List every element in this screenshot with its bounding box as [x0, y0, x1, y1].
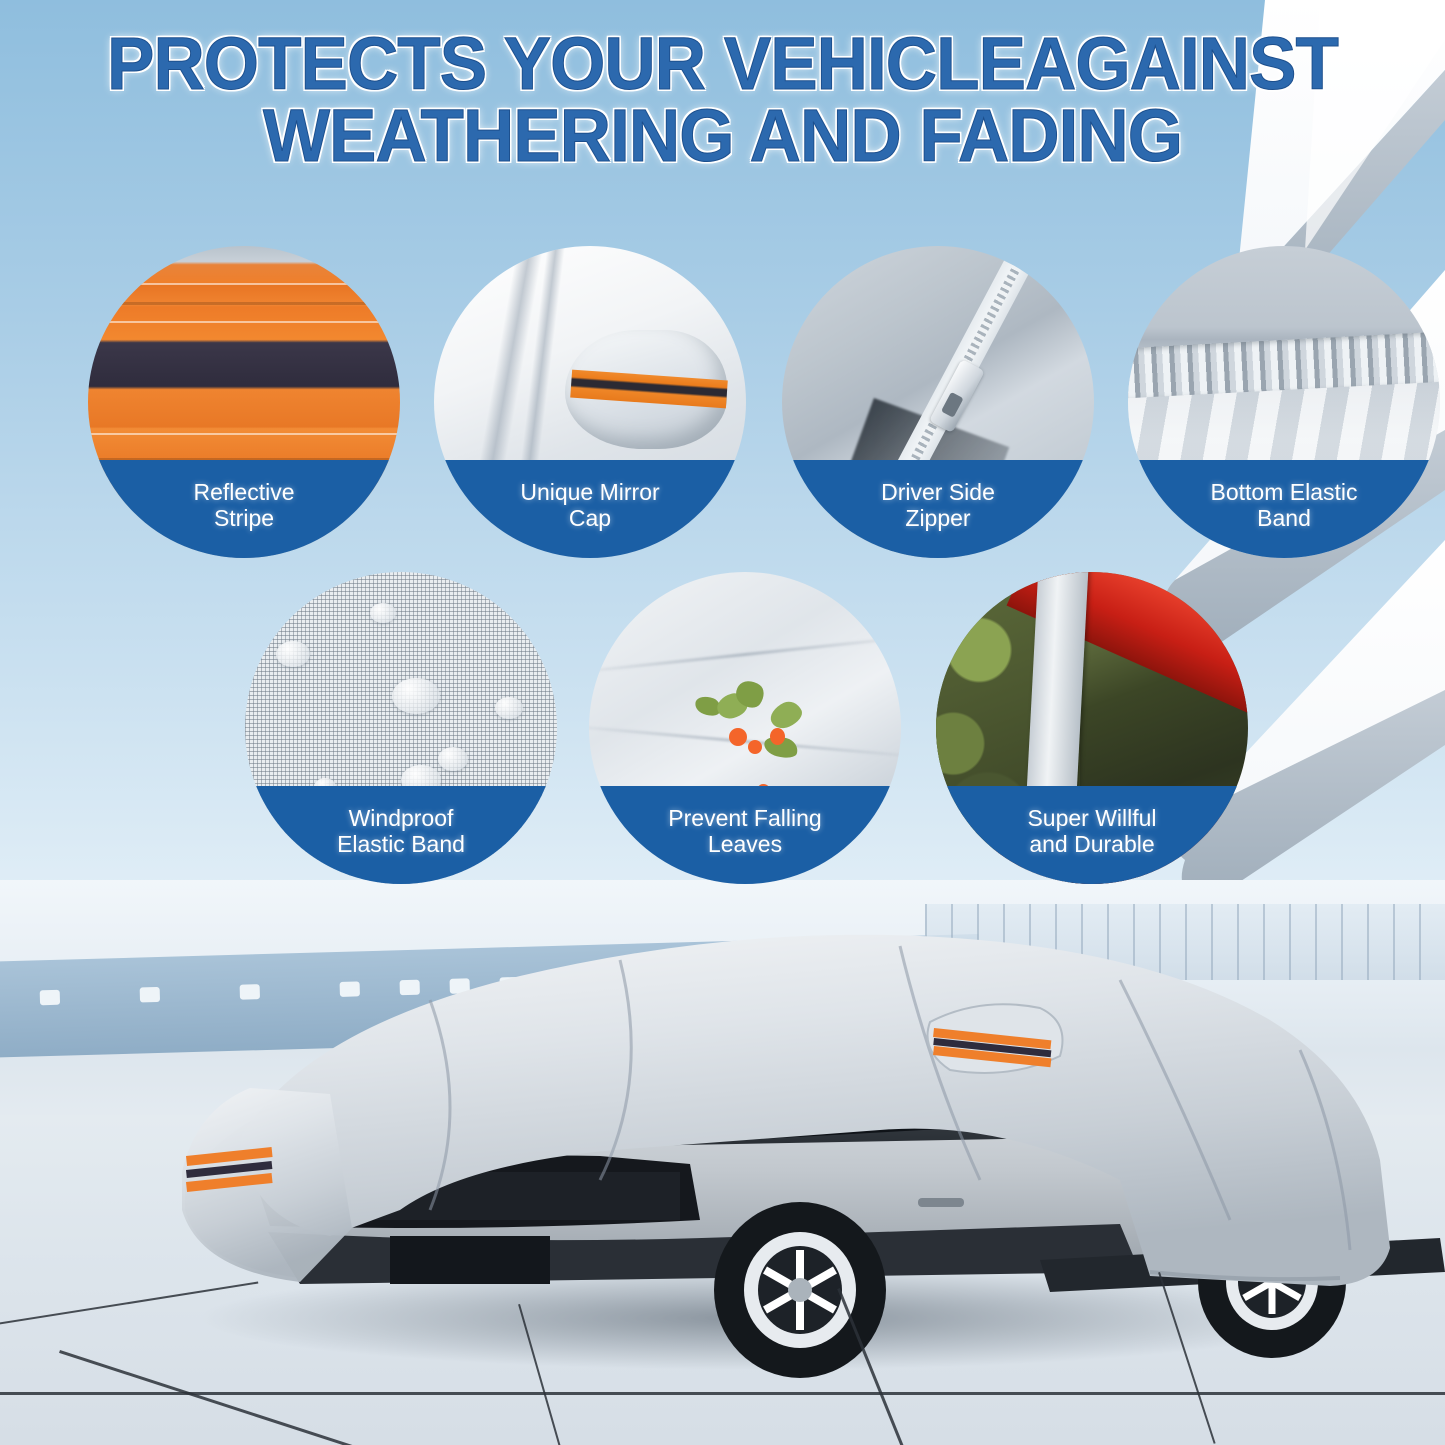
- feature-bottom-elastic-band: Bottom Elastic Band: [1128, 246, 1440, 558]
- feature-super-willful-and-durable: Super Willful and Durable: [936, 572, 1248, 884]
- feature-label-line-2: Elastic Band: [337, 832, 465, 858]
- feature-driver-side-zipper: Driver Side Zipper: [782, 246, 1094, 558]
- feature-label-driver-side-zipper: Driver Side Zipper: [782, 460, 1094, 558]
- feature-label-line-2: Leaves: [668, 832, 821, 858]
- feature-label-windproof-elastic-band: Windproof Elastic Band: [245, 786, 557, 884]
- feature-label-line-2: Cap: [520, 506, 659, 532]
- page-title: PROTECTS YOUR VEHICLEAGAINST WEATHERING …: [29, 28, 1416, 172]
- feature-reflective-stripe: Reflective Stripe: [88, 246, 400, 558]
- feature-label-line-2: Stripe: [194, 506, 295, 532]
- feature-label-unique-mirror-cap: Unique Mirror Cap: [434, 460, 746, 558]
- feature-label-line-1: Super Willful: [1027, 806, 1156, 832]
- covered-car-illustration: [0, 880, 1445, 1445]
- feature-label-line-1: Unique Mirror: [520, 480, 659, 506]
- headline-line-1: PROTECTS YOUR VEHICLEAGAINST: [107, 22, 1338, 105]
- product-feature-poster: PROTECTS YOUR VEHICLEAGAINST WEATHERING …: [0, 0, 1445, 1445]
- feature-prevent-falling-leaves: Prevent Falling Leaves: [589, 572, 901, 884]
- feature-label-super-willful-and-durable: Super Willful and Durable: [936, 786, 1248, 884]
- feature-label-prevent-falling-leaves: Prevent Falling Leaves: [589, 786, 901, 884]
- feature-label-line-1: Driver Side: [881, 480, 995, 506]
- feature-unique-mirror-cap: Unique Mirror Cap: [434, 246, 746, 558]
- feature-label-line-1: Prevent Falling: [668, 806, 821, 832]
- feature-label-line-2: Band: [1211, 506, 1358, 532]
- hero-photo: [0, 880, 1445, 1445]
- feature-label-line-2: and Durable: [1027, 832, 1156, 858]
- feature-label-bottom-elastic-band: Bottom Elastic Band: [1128, 460, 1440, 558]
- headline-line-2: WEATHERING AND FADING: [29, 100, 1416, 172]
- feature-label-line-1: Reflective: [194, 480, 295, 506]
- feature-label-line-1: Windproof: [337, 806, 465, 832]
- feature-label-line-2: Zipper: [881, 506, 995, 532]
- floor-seam: [0, 1392, 1445, 1395]
- feature-label-line-1: Bottom Elastic: [1211, 480, 1358, 506]
- feature-label-reflective-stripe: Reflective Stripe: [88, 460, 400, 558]
- feature-windproof-elastic-band: Windproof Elastic Band: [245, 572, 557, 884]
